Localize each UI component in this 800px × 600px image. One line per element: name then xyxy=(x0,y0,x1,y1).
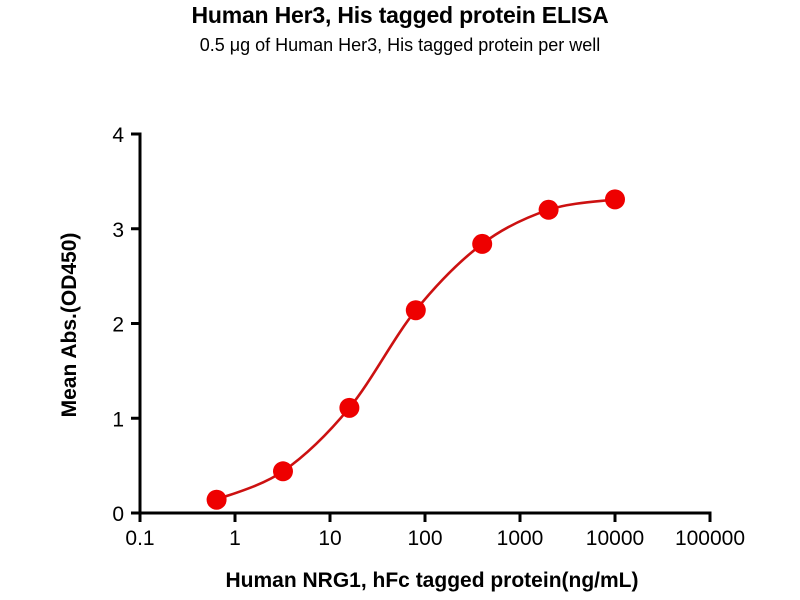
data-point xyxy=(539,200,559,220)
x-tick-label: 1 xyxy=(229,527,241,550)
x-tick-label: 100 xyxy=(407,527,442,550)
y-tick-label: 3 xyxy=(112,219,124,242)
data-point xyxy=(406,300,426,320)
y-tick-label: 0 xyxy=(112,503,124,526)
x-tick-label: 10 xyxy=(318,527,341,550)
y-tick-label: 1 xyxy=(112,408,124,431)
data-series-curve xyxy=(217,199,615,499)
x-tick-label: 1000 xyxy=(497,527,544,550)
x-axis-tick-labels: 0.1110100100010000100000 xyxy=(125,527,745,550)
y-tick-label: 4 xyxy=(112,124,124,147)
data-point xyxy=(605,189,625,209)
x-tick-label: 10000 xyxy=(586,527,644,550)
y-axis-title: Mean Abs.(OD450) xyxy=(58,233,81,418)
x-tick-label: 0.1 xyxy=(125,527,154,550)
x-axis-title: Human NRG1, hFc tagged protein(ng/mL) xyxy=(226,569,639,592)
x-tick-label: 100000 xyxy=(675,527,745,550)
elisa-dose-response-chart: 01234 0.1110100100010000100000 Mean Abs.… xyxy=(0,0,800,600)
y-tick-label: 2 xyxy=(112,314,124,337)
data-point xyxy=(339,398,359,418)
data-series-markers xyxy=(207,189,625,509)
y-axis-tick-labels: 01234 xyxy=(112,124,124,526)
data-point xyxy=(472,234,492,254)
data-point xyxy=(273,461,293,481)
chart-page: Human Her3, His tagged protein ELISA 0.5… xyxy=(0,0,800,600)
data-point xyxy=(207,490,227,510)
